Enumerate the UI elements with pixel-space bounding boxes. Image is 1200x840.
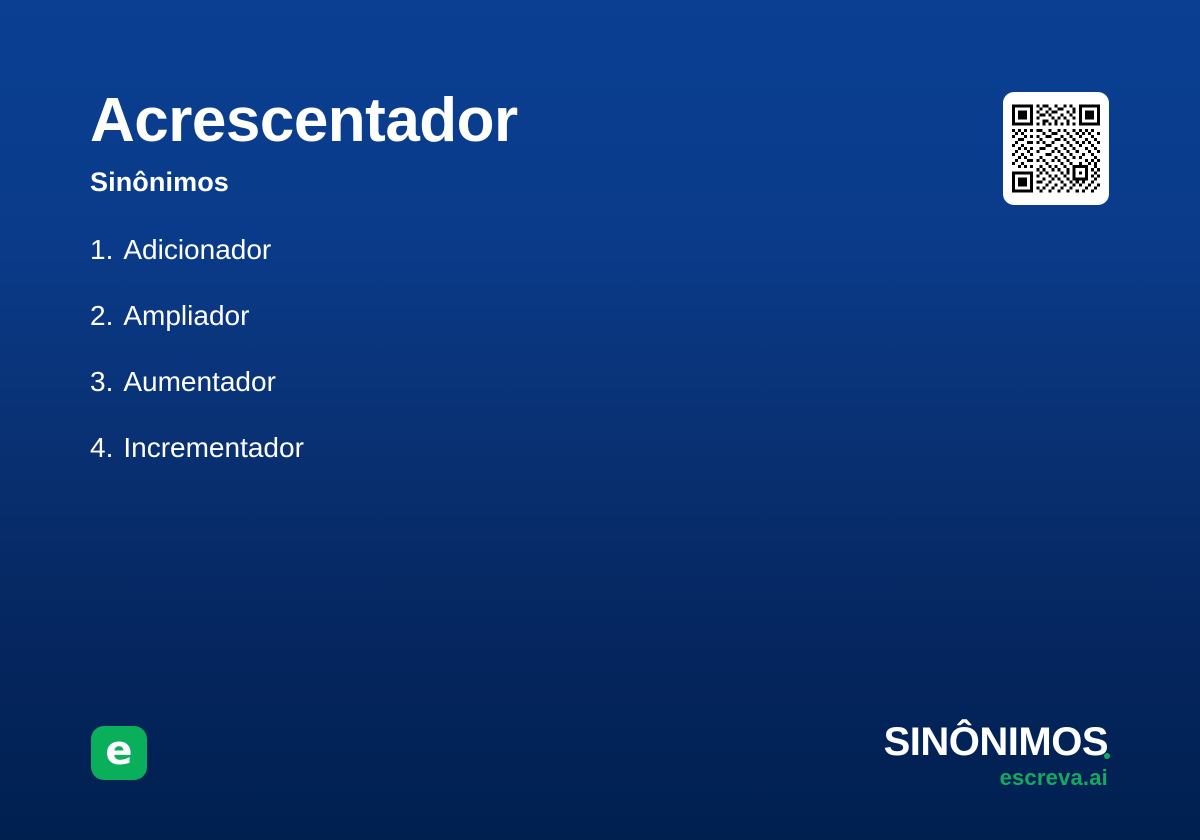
brand-tagline: escreva.ai bbox=[884, 767, 1108, 789]
list-item-number: 1. bbox=[90, 236, 113, 264]
list-item-term: Adicionador bbox=[123, 236, 271, 264]
brand-name: SINÔNIMOS bbox=[884, 722, 1108, 762]
list-item: 3. Aumentador bbox=[90, 368, 790, 434]
page-subtitle: Sinônimos bbox=[90, 166, 229, 198]
list-item-number: 3. bbox=[90, 368, 113, 396]
page-title: Acrescentador bbox=[90, 88, 518, 153]
qr-code-icon bbox=[1012, 101, 1100, 196]
synonym-list: 1. Adicionador 2. Ampliador 3. Aumentado… bbox=[90, 236, 790, 500]
escreva-badge-letter: e bbox=[105, 731, 132, 771]
list-item: 2. Ampliador bbox=[90, 302, 790, 368]
qr-code[interactable] bbox=[1003, 92, 1109, 205]
list-item-term: Ampliador bbox=[123, 302, 249, 330]
list-item: 4. Incrementador bbox=[90, 434, 790, 500]
brand-name-text: SINÔNIMOS bbox=[884, 720, 1108, 764]
escreva-logo-badge[interactable]: e bbox=[91, 726, 147, 780]
list-item: 1. Adicionador bbox=[90, 236, 790, 302]
list-item-term: Aumentador bbox=[123, 368, 276, 396]
list-item-number: 4. bbox=[90, 434, 113, 462]
brand-dot-icon bbox=[1104, 753, 1110, 759]
list-item-term: Incrementador bbox=[123, 434, 304, 462]
brand-lockup: SINÔNIMOS escreva.ai bbox=[884, 722, 1108, 789]
list-item-number: 2. bbox=[90, 302, 113, 330]
